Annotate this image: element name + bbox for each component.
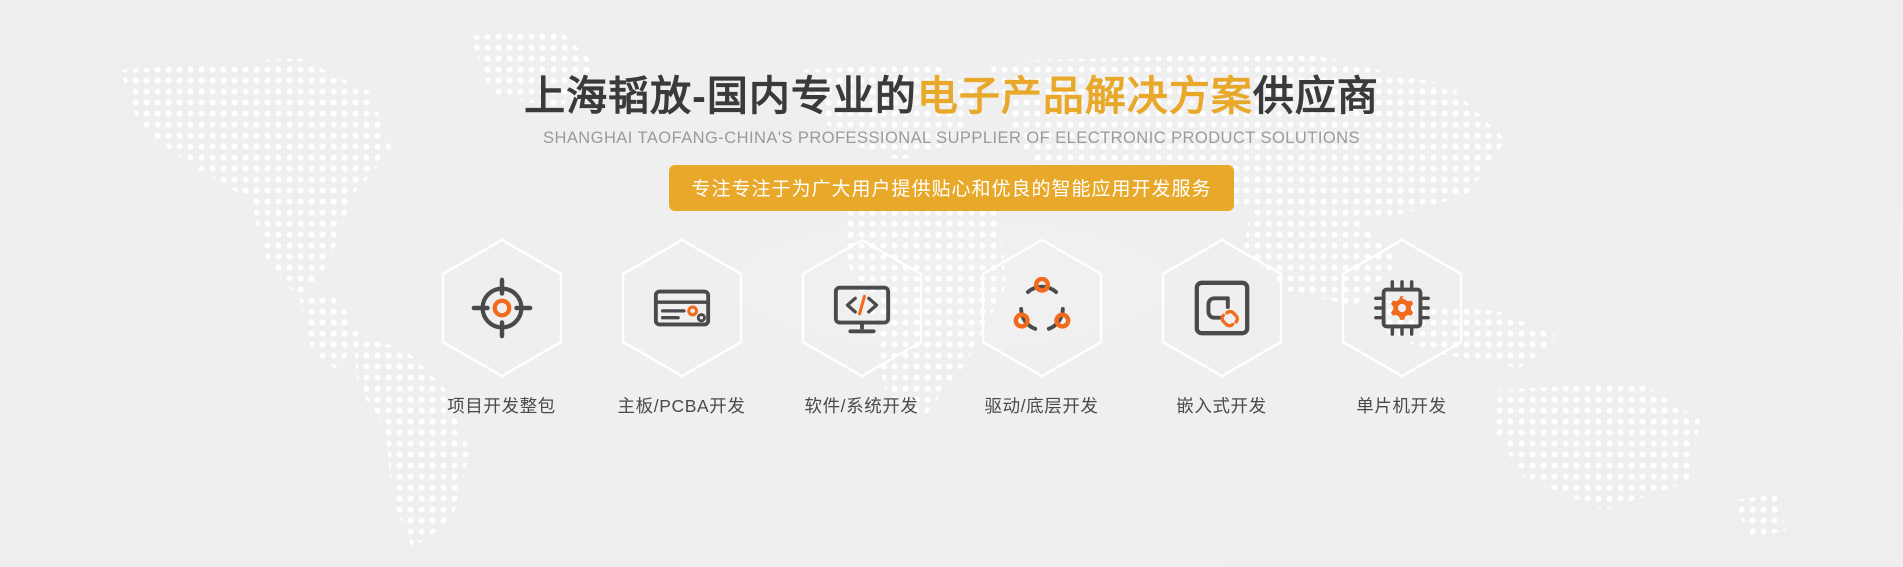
circuit-board-icon xyxy=(651,277,713,339)
crosshair-target-icon xyxy=(471,277,533,339)
title-tail: 供应商 xyxy=(1253,73,1379,119)
service-label: 驱动/底层开发 xyxy=(984,393,1098,418)
service-label: 项目开发整包 xyxy=(447,393,556,418)
page-title: 上海韬放-国内专业的电子产品解决方案供应商 xyxy=(524,74,1379,120)
page-subtitle: SHANGHAI TAOFANG-CHINA'S PROFESSIONAL SU… xyxy=(543,129,1360,148)
service-item-driver-lowlevel[interactable]: 驱动/底层开发 xyxy=(971,237,1113,418)
service-item-project-package[interactable]: 项目开发整包 xyxy=(431,237,573,418)
service-label: 嵌入式开发 xyxy=(1176,393,1267,418)
service-label: 主板/PCBA开发 xyxy=(618,393,746,418)
service-item-embedded[interactable]: 嵌入式开发 xyxy=(1151,237,1293,418)
network-nodes-icon xyxy=(1011,277,1073,339)
service-label: 单片机开发 xyxy=(1356,393,1447,418)
service-label: 软件/系统开发 xyxy=(804,393,918,418)
hexagon-frame xyxy=(1338,237,1466,379)
service-item-mcu[interactable]: 单片机开发 xyxy=(1331,237,1473,418)
service-item-software-system[interactable]: 软件/系统开发 xyxy=(791,237,933,418)
tagline-badge: 专注专注于为广大用户提供贴心和优良的智能应用开发服务 xyxy=(669,165,1233,211)
hexagon-frame xyxy=(798,237,926,379)
microchip-gear-icon xyxy=(1371,277,1433,339)
hexagon-frame xyxy=(1158,237,1286,379)
title-highlight: 电子产品解决方案 xyxy=(917,73,1253,119)
service-list: 项目开发整包 xyxy=(431,237,1473,418)
title-lead: 上海韬放-国内专业的 xyxy=(524,73,917,119)
embedded-link-icon xyxy=(1191,277,1253,339)
service-item-pcba[interactable]: 主板/PCBA开发 xyxy=(611,237,753,418)
hexagon-frame xyxy=(978,237,1106,379)
hero-banner: 上海韬放-国内专业的电子产品解决方案供应商 SHANGHAI TAOFANG-C… xyxy=(0,0,1903,567)
monitor-code-icon xyxy=(831,277,893,339)
hexagon-frame xyxy=(438,237,566,379)
hexagon-frame xyxy=(618,237,746,379)
